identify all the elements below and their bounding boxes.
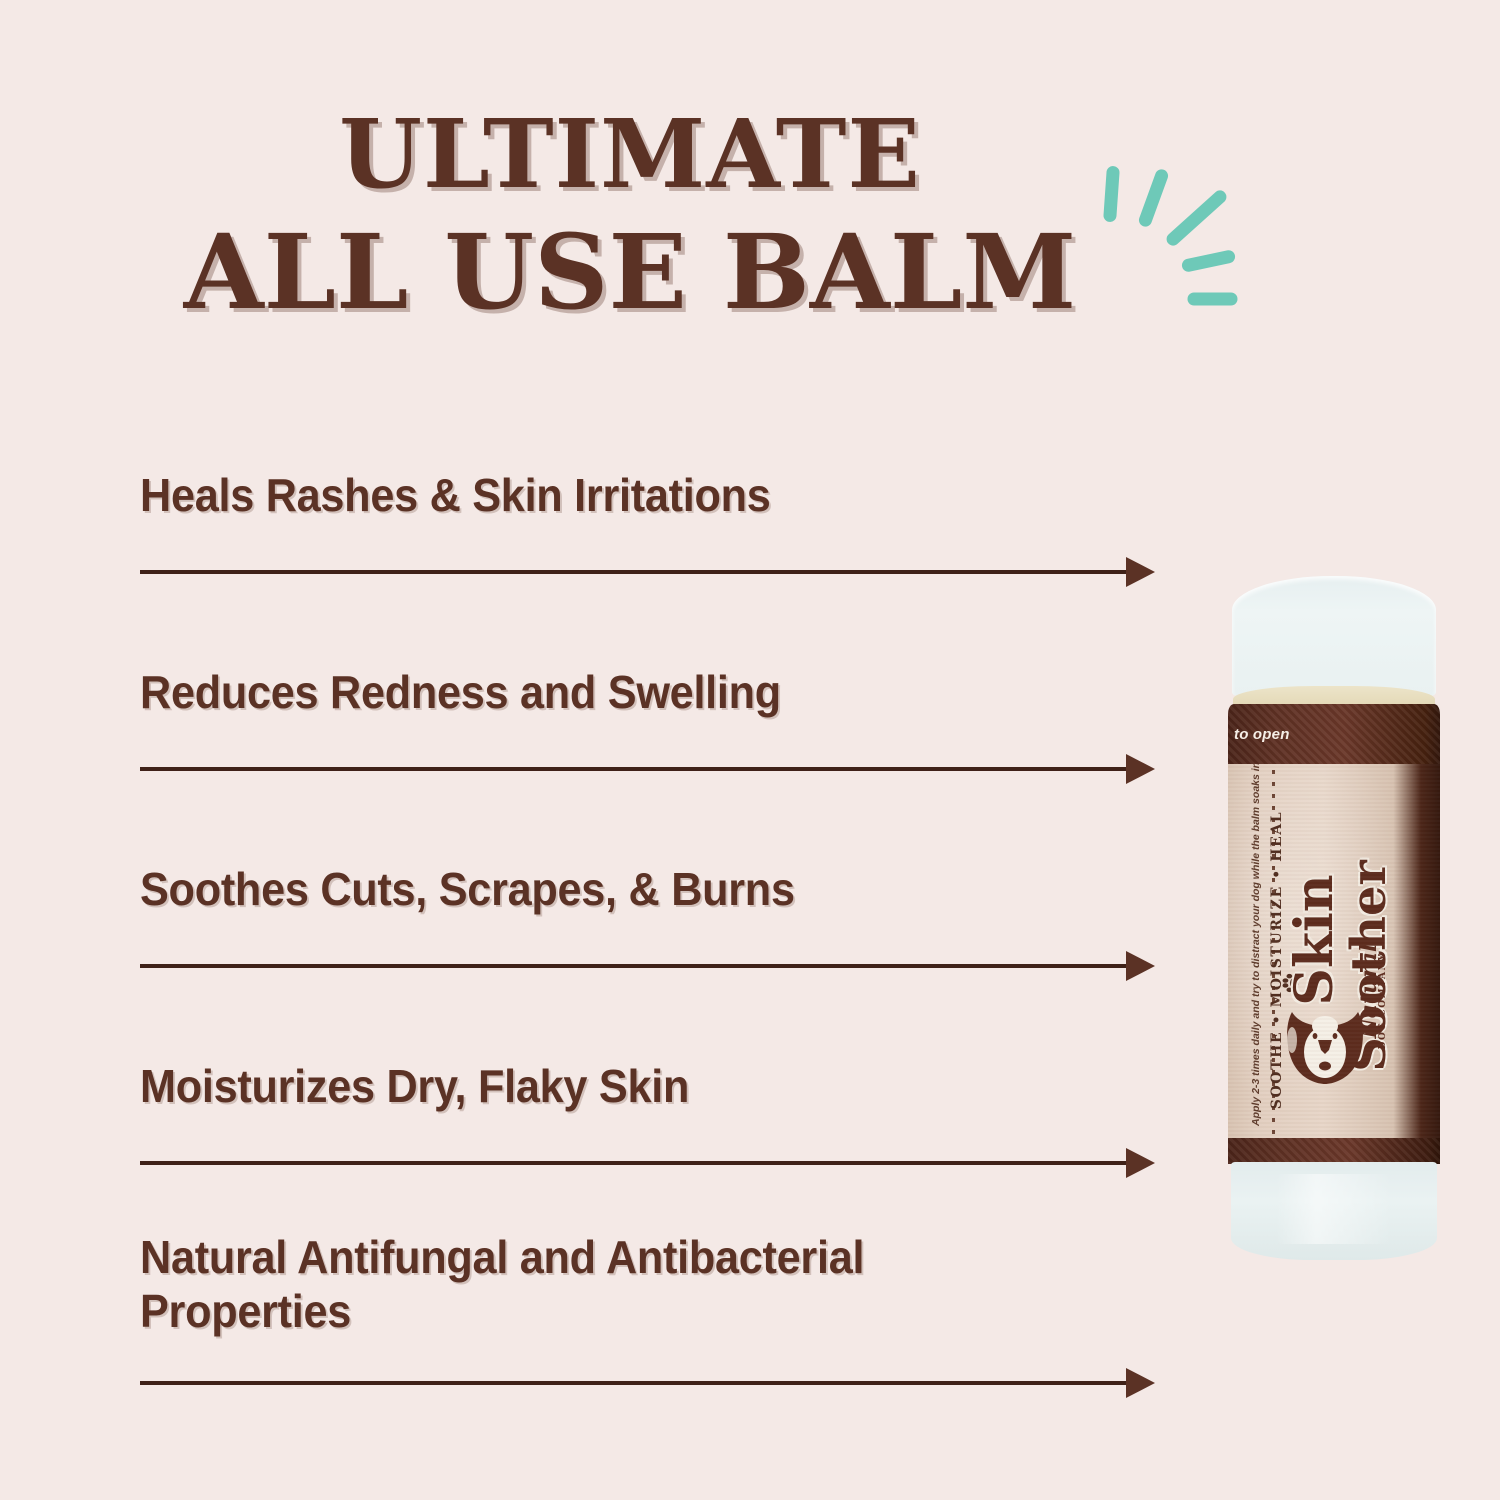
tube-top-band: to open	[1228, 704, 1440, 766]
benefits-list: Heals Rashes & Skin Irritations Reduces …	[140, 468, 1160, 1398]
list-item: Reduces Redness and Swelling	[140, 665, 1160, 784]
sparkle-ray	[1164, 188, 1229, 249]
sparkle-burst-icon	[1080, 150, 1270, 330]
list-item: Heals Rashes & Skin Irritations	[140, 468, 1160, 587]
arrow-divider	[140, 951, 1155, 981]
benefit-label: Soothes Cuts, Scrapes, & Burns	[140, 862, 1099, 916]
brand-logo: Natural DOG COMPANY	[1276, 968, 1396, 1118]
tube-cap	[1232, 576, 1436, 696]
page-title-line-2: ALL USE BALM	[0, 214, 1260, 332]
product-label: Apply 2-3 times daily and try to distrac…	[1228, 764, 1440, 1140]
arrow-divider	[140, 1368, 1155, 1398]
benefit-label: Reduces Redness and Swelling	[140, 665, 1099, 719]
page-title-line-1: ULTIMATE	[0, 96, 1260, 214]
arrow-shaft	[140, 964, 1128, 968]
list-item: Soothes Cuts, Scrapes, & Burns	[140, 862, 1160, 981]
sparkle-ray	[1103, 166, 1120, 223]
tube-base	[1231, 1162, 1437, 1260]
tube-bottom-band	[1228, 1138, 1440, 1164]
to-open-text: to open	[1234, 726, 1290, 743]
brand-subtitle: DOG COMPANY	[1378, 946, 1388, 1056]
arrow-head-icon	[1126, 1148, 1155, 1178]
page-title: ULTIMATE ALL USE BALM	[0, 96, 1260, 332]
sparkle-ray	[1137, 168, 1170, 229]
usage-instructions: Apply 2-3 times daily and try to distrac…	[1250, 766, 1262, 1126]
benefit-label: Heals Rashes & Skin Irritations	[140, 468, 1099, 522]
arrow-divider	[140, 1148, 1155, 1178]
arrow-shaft	[140, 570, 1128, 574]
benefit-label: Moisturizes Dry, Flaky Skin	[140, 1059, 1099, 1113]
arrow-divider	[140, 754, 1155, 784]
product-image-balm-tube: to open Apply 2-3 times daily and try to…	[1228, 576, 1440, 1292]
list-item: Moisturizes Dry, Flaky Skin	[140, 1059, 1160, 1178]
sparkle-ray	[1181, 249, 1237, 273]
arrow-shaft	[140, 1381, 1128, 1385]
arrow-head-icon	[1126, 754, 1155, 784]
arrow-head-icon	[1126, 557, 1155, 587]
arrow-shaft	[140, 1161, 1128, 1165]
arrow-divider	[140, 557, 1155, 587]
arrow-shaft	[140, 767, 1128, 771]
sparkle-ray	[1188, 293, 1238, 306]
arrow-head-icon	[1126, 1368, 1155, 1398]
list-item: Natural Antifungal and Antibacterial Pro…	[140, 1230, 1160, 1398]
benefit-label: Natural Antifungal and Antibacterial Pro…	[140, 1230, 1099, 1338]
arrow-head-icon	[1126, 951, 1155, 981]
